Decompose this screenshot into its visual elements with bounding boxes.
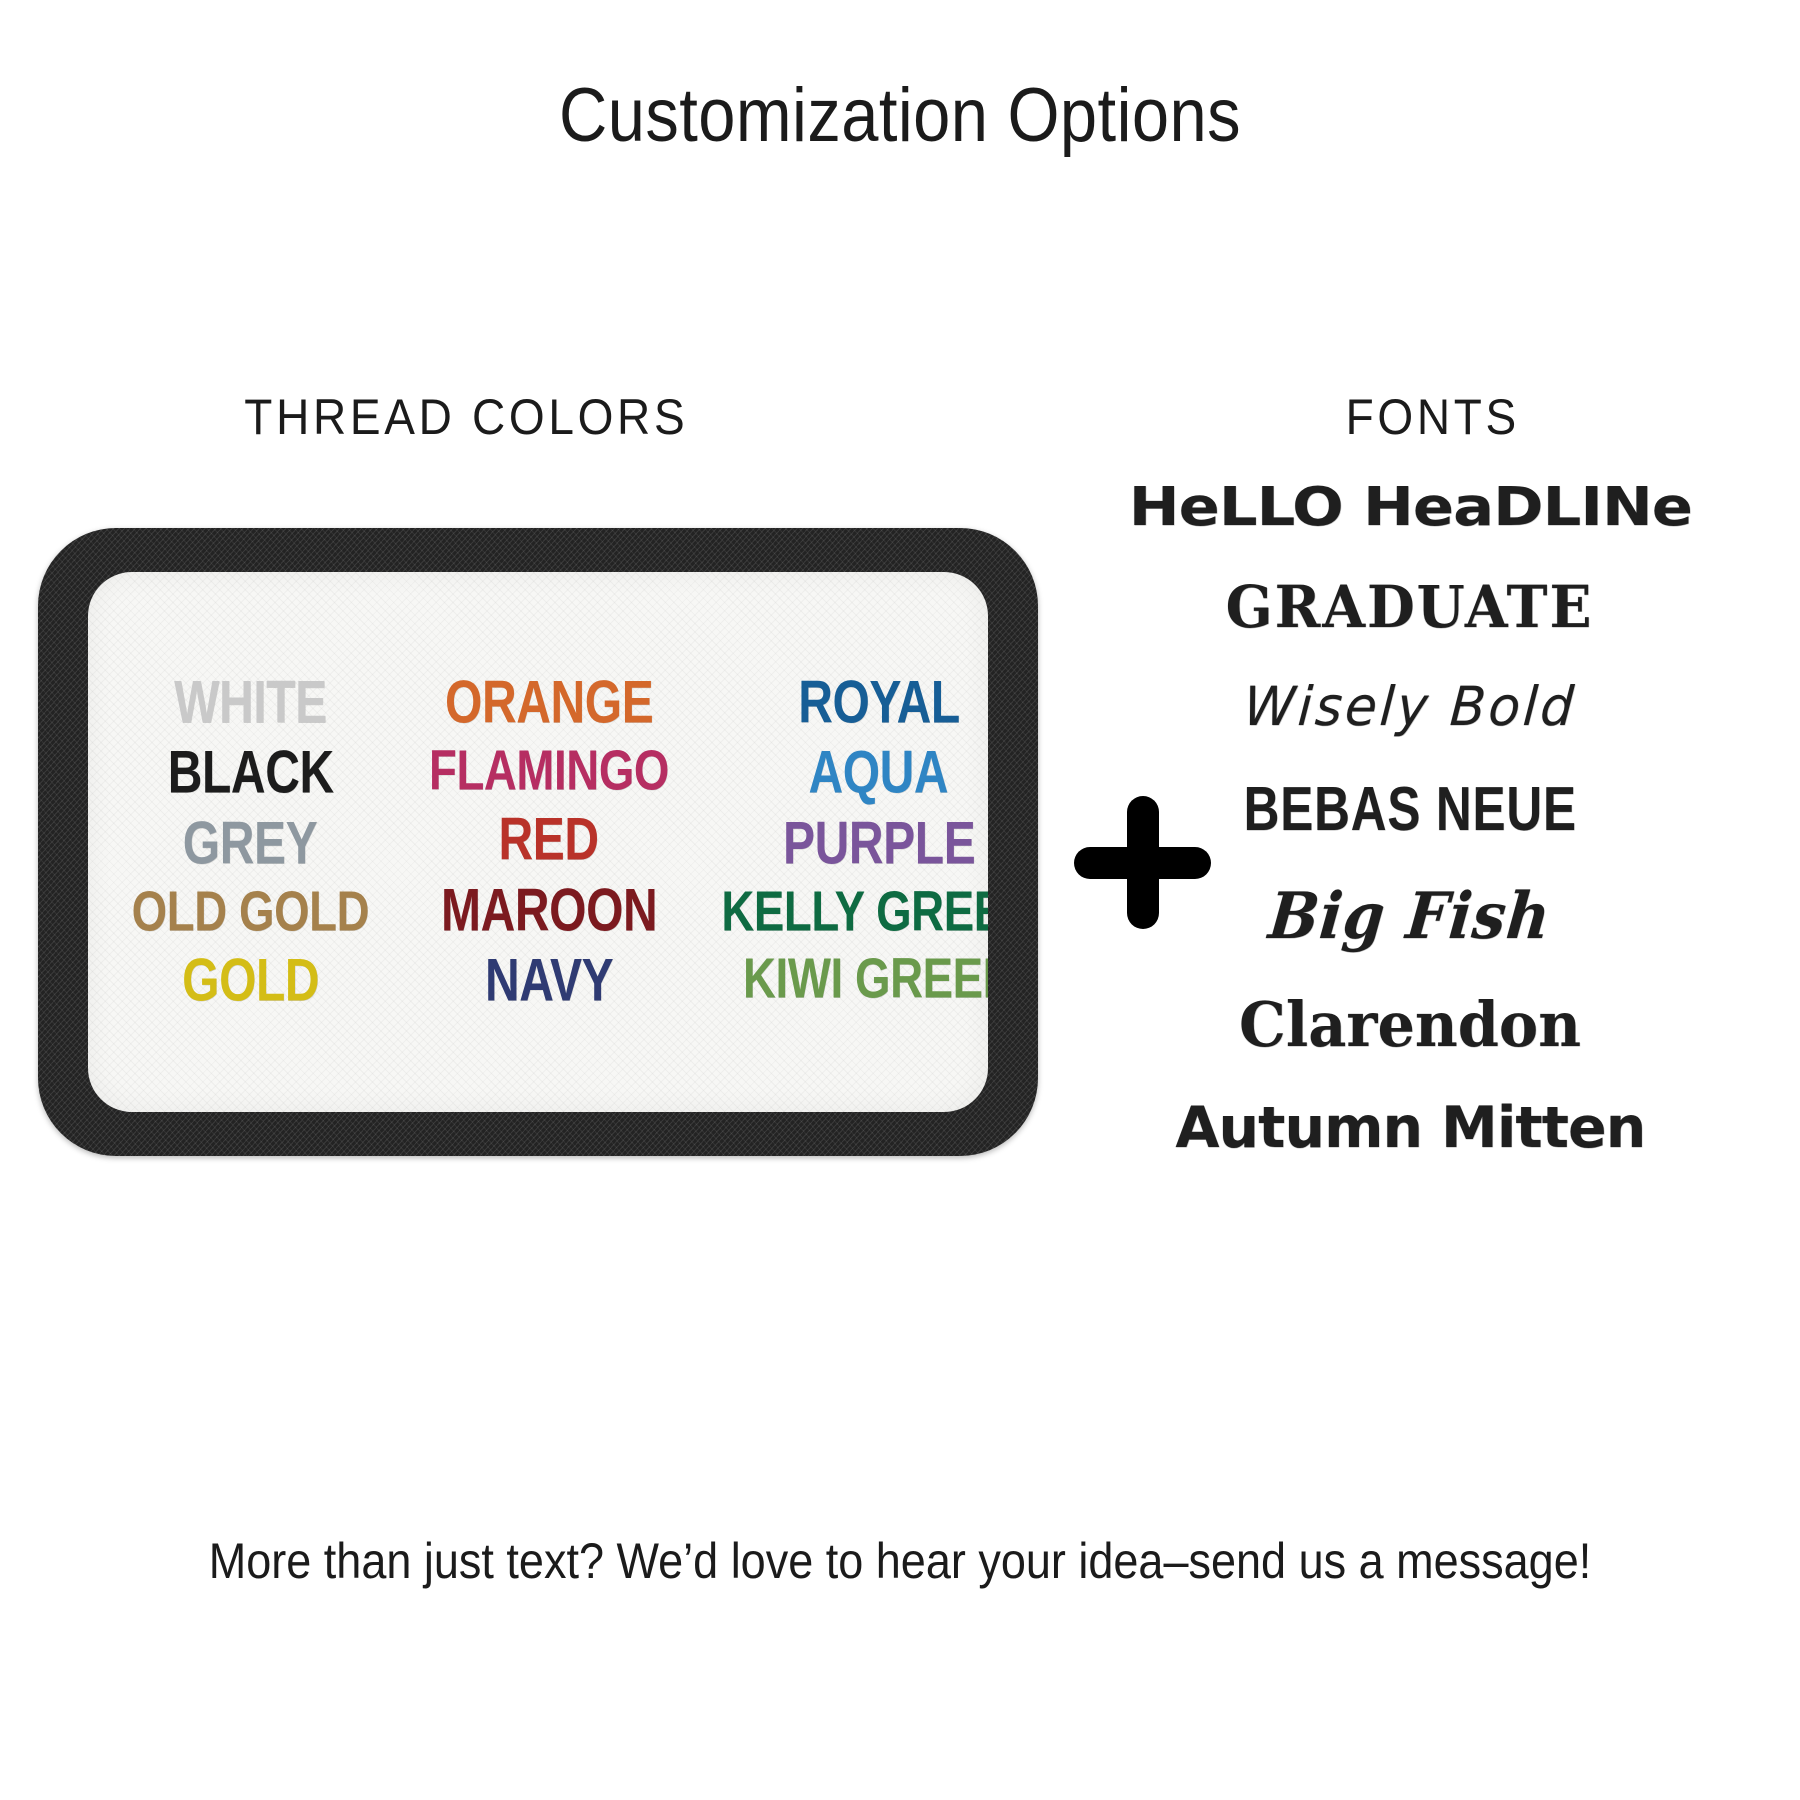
thread-color-swatch-kelly-green: KELLY GREEN (721, 880, 988, 945)
font-options-list: HeLLO HeaDLINe GRADUATE Wisely Bold BEBA… (1060, 470, 1760, 1163)
footer-message: More than just text? We’d love to hear y… (90, 1532, 1710, 1590)
thread-color-swatch-grey: GREY (183, 810, 317, 878)
customization-options-page: Customization Options THREAD COLORS FONT… (0, 0, 1800, 1800)
thread-color-column: WHITE BLACK GREY OLD GOLD GOLD (102, 669, 399, 1016)
font-sample-big-fish: Big Fish (1266, 879, 1555, 954)
thread-color-swatch-black: BLACK (167, 739, 333, 807)
thread-color-swatch-flamingo: FLAMINGO (429, 739, 669, 804)
font-sample-hello-headline: HeLLO HeaDLINe (1128, 475, 1691, 538)
thread-color-swatch-aqua: AQUA (809, 739, 949, 807)
thread-colors-patch: WHITE BLACK GREY OLD GOLD GOLD ORANGE FL… (38, 528, 1038, 1156)
thread-color-swatch-old-gold: OLD GOLD (132, 880, 369, 945)
thread-color-swatch-gold: GOLD (182, 947, 319, 1015)
patch-fabric: WHITE BLACK GREY OLD GOLD GOLD ORANGE FL… (88, 572, 988, 1112)
thread-color-swatch-orange: ORANGE (445, 669, 653, 737)
thread-color-swatch-royal: ROYAL (798, 669, 960, 737)
thread-color-swatch-white: WHITE (174, 669, 327, 737)
font-sample-autumn-mitten: Autumn Mitten (1175, 1095, 1645, 1162)
thread-color-swatch-red: RED (499, 806, 599, 874)
thread-color-swatch-purple: PURPLE (783, 810, 975, 878)
font-sample-wisely-bold: Wisely Bold (1242, 675, 1579, 738)
thread-color-swatch-kiwi-green: KIWI GREEN (743, 947, 988, 1012)
font-sample-clarendon: Clarendon (1239, 988, 1581, 1061)
thread-colors-header: THREAD COLORS (244, 388, 688, 446)
font-sample-bebas-neue: BEBAS NEUE (1243, 774, 1576, 845)
thread-color-grid: WHITE BLACK GREY OLD GOLD GOLD ORANGE FL… (88, 669, 988, 1016)
thread-color-swatch-navy: NAVY (485, 947, 613, 1015)
thread-color-swatch-maroon: MAROON (441, 876, 657, 944)
page-title: Customization Options (108, 72, 1692, 159)
thread-color-column: ROYAL AQUA PURPLE KELLY GREEN KIWI GREEN (699, 669, 988, 1012)
font-sample-graduate: GRADUATE (1226, 573, 1594, 641)
fonts-header: FONTS (1346, 388, 1520, 446)
thread-color-column: ORANGE FLAMINGO RED MAROON NAVY (399, 669, 699, 1016)
